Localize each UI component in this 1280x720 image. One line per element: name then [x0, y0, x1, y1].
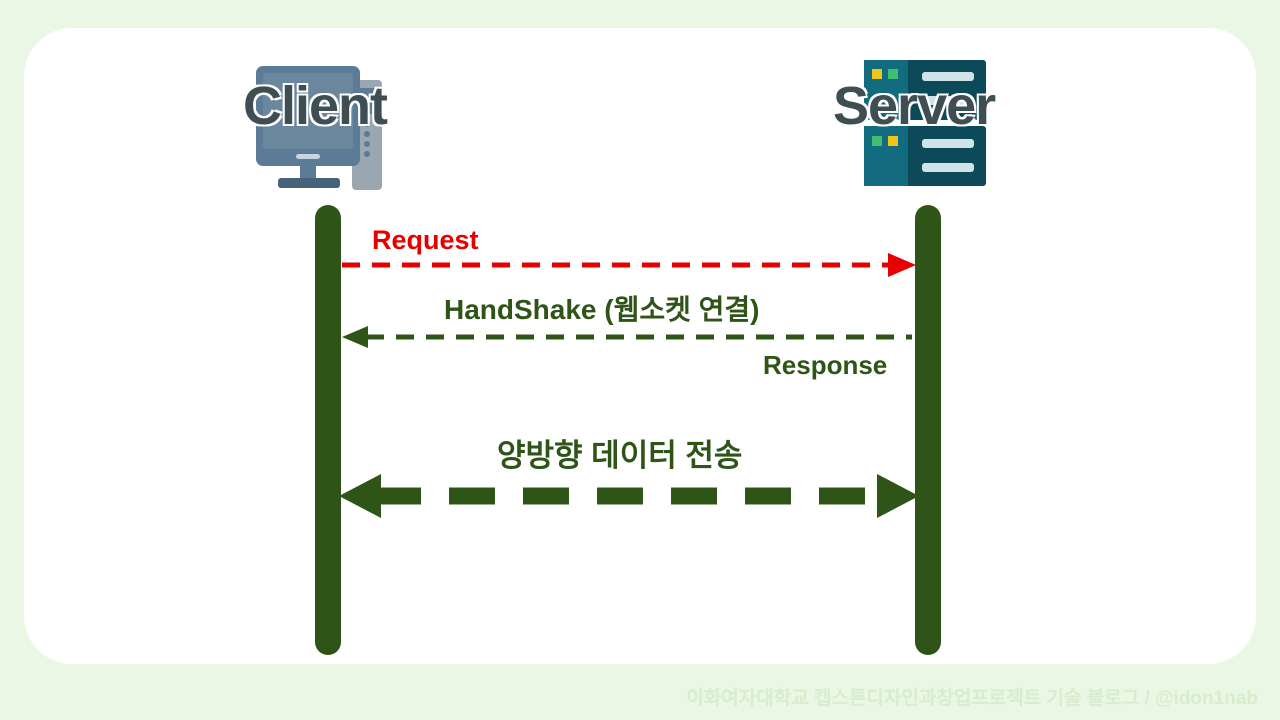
response-message-label: Response [763, 350, 887, 381]
footer-credit: 이화여자대학교 캡스톤디자인과창업프로젝트 기술 블로그 / @idon1nab [686, 683, 1258, 710]
request-arrow-icon [340, 250, 920, 280]
handshake-arrow-icon [340, 322, 920, 352]
bidirectional-arrow-icon [335, 468, 925, 524]
client-node-title: Client [243, 75, 387, 137]
server-node-title: Server [833, 75, 995, 137]
client-lifeline [315, 205, 341, 655]
